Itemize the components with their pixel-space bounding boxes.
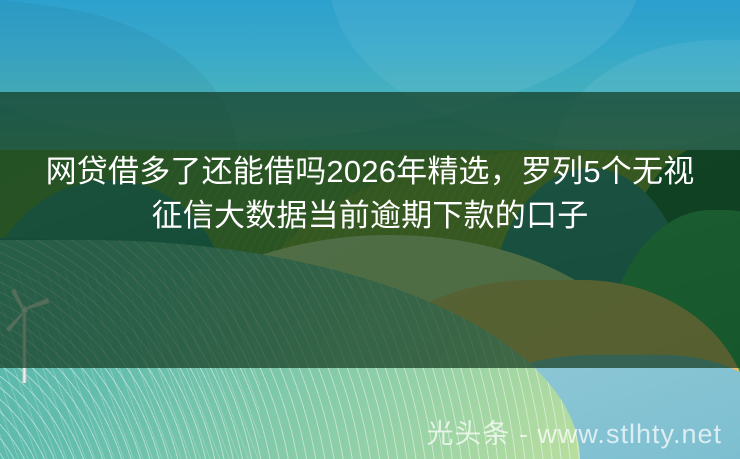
site-watermark: 光头条 - www.stlhty.net	[0, 412, 740, 451]
page-title: 网贷借多了还能借吗2026年精选，罗列5个无视征信大数据当前逾期下款的口子	[40, 150, 700, 238]
cover-image: 网贷借多了还能借吗2026年精选，罗列5个无视征信大数据当前逾期下款的口子 光头…	[0, 0, 740, 459]
